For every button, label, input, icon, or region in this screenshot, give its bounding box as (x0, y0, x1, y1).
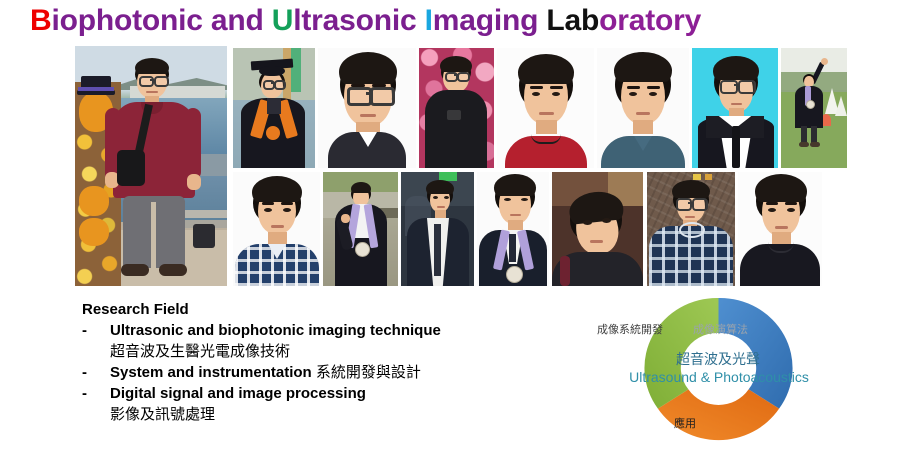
photo-member-11 (477, 172, 549, 286)
photo-member-12 (552, 172, 643, 286)
title-segment-6: Lab (546, 4, 599, 37)
photo-member-10 (401, 172, 474, 286)
title-segment-1: iophotonic and (51, 4, 271, 37)
research-item-3: - Digital signal and image processing 影像… (82, 384, 552, 425)
research-item-2-zh: 系統開發與設計 (316, 364, 421, 381)
page-title: Biophotonic and Ultrasonic Imaging Labor… (30, 2, 701, 40)
research-item-2-line: System and instrumentation 系統開發與設計 (110, 363, 552, 383)
bullet-marker-3: - (82, 384, 87, 404)
title-segment-3: ltrasonic (293, 4, 424, 37)
research-item-2: - System and instrumentation 系統開發與設計 (82, 363, 552, 383)
lab-member-photo-collage (75, 46, 819, 286)
photo-member-4 (497, 48, 594, 168)
photo-member-5 (597, 48, 689, 168)
title-segment-2: U (272, 4, 293, 37)
photo-member-2 (318, 48, 416, 168)
photo-member-6 (692, 48, 778, 168)
research-item-2-en: System and instrumentation (110, 364, 316, 381)
research-item-1-en: Ultrasonic and biophotonic imaging techn… (110, 321, 552, 341)
research-item-1: - Ultrasonic and biophotonic imaging tec… (82, 321, 552, 362)
donut-center-title-en: Ultrasound & Photoacoustics (619, 369, 819, 385)
research-field-heading: Research Field (82, 300, 552, 319)
title-segment-4: I (425, 4, 433, 37)
photo-member-8 (233, 172, 320, 286)
photo-professor (75, 46, 227, 286)
photo-member-7 (781, 48, 847, 168)
photo-member-14 (738, 172, 822, 286)
title-segment-5: maging (433, 4, 547, 37)
donut-label-applications: 應用 (674, 418, 696, 431)
donut-center-title-zh: 超音波及光聲 (658, 351, 778, 367)
research-item-3-en: Digital signal and image processing (110, 384, 552, 404)
research-item-3-zh: 影像及訊號處理 (110, 404, 552, 425)
bullet-marker-2: - (82, 363, 87, 383)
photo-member-9 (323, 172, 398, 286)
bullet-marker-1: - (82, 321, 87, 341)
photo-member-13 (647, 172, 735, 286)
research-item-1-zh: 超音波及生醫光電成像技術 (110, 341, 552, 362)
photo-member-1 (233, 48, 315, 168)
title-segment-0: B (30, 4, 51, 37)
title-segment-7: oratory (599, 4, 701, 37)
photo-member-3 (419, 48, 494, 168)
research-focus-donut: 成像演算法 成像系統開發 應用 超音波及光聲 Ultrasound & Phot… (641, 293, 796, 445)
donut-label-imaging-system-development: 成像系統開發 (597, 324, 663, 337)
donut-label-imaging-algorithms: 成像演算法 (693, 324, 748, 337)
research-field-block: Research Field - Ultrasonic and biophoto… (82, 300, 552, 425)
